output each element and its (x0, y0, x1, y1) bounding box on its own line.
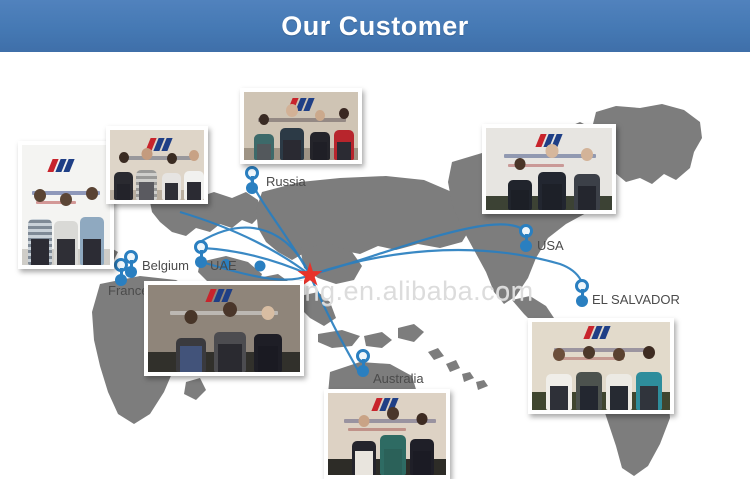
customer-photo-russia[interactable] (240, 88, 362, 164)
company-logo-icon (586, 326, 618, 342)
pin-label-belgium: Belgium (142, 258, 189, 273)
pin-label-russia: Russia (266, 174, 306, 189)
pin-foot-dot (357, 365, 369, 377)
pin-foot-dot (576, 295, 588, 307)
pin-foot-dot (195, 256, 207, 268)
customer-photo-el-salvador[interactable] (528, 318, 674, 414)
pin-label-france: France (108, 283, 148, 298)
company-logo-icon (50, 159, 76, 172)
pin-uae[interactable] (194, 240, 210, 268)
page-title: Our Customer (0, 0, 750, 52)
page-header-banner: Our Customer (0, 0, 750, 52)
pin-foot-dot (520, 240, 532, 252)
pin-russia[interactable] (245, 166, 261, 194)
customer-photo-uae[interactable] (144, 281, 304, 376)
customer-photo-india[interactable] (18, 141, 114, 269)
pin-label-usa: USA (537, 238, 564, 253)
pin-label-uae: UAE (210, 258, 237, 273)
pin-label-australia: Australia (373, 371, 424, 386)
pin-foot-dot (246, 182, 258, 194)
customer-map-page: Our Customer (0, 0, 750, 479)
pin-el-salvador[interactable] (575, 279, 591, 307)
pin-australia[interactable] (356, 349, 372, 377)
pin-france[interactable] (114, 258, 130, 286)
pin-usa[interactable] (519, 224, 535, 252)
customer-photo-usa[interactable] (482, 124, 616, 214)
pin-label-el-salvador: EL SALVADOR (592, 292, 680, 307)
customer-photo-belgium[interactable] (106, 126, 208, 204)
customer-photo-australia[interactable] (324, 389, 450, 479)
